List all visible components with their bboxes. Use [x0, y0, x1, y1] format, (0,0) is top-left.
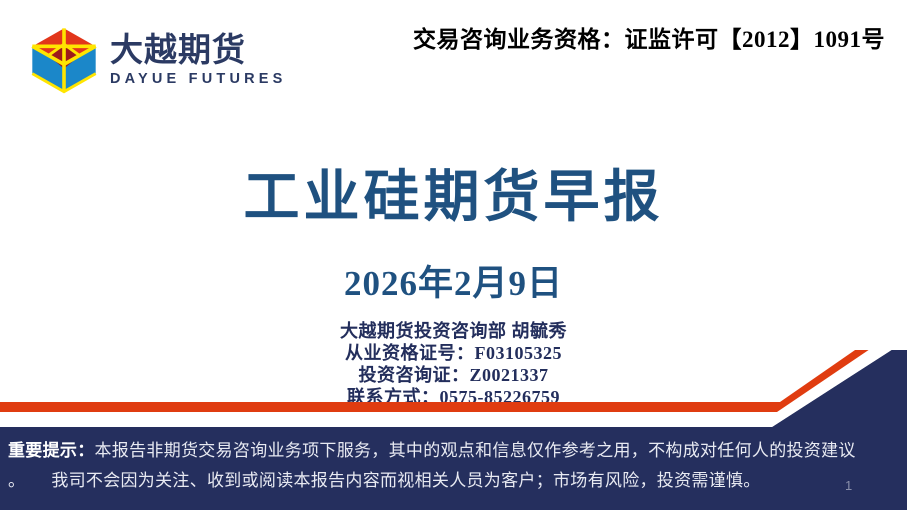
brand-logo: 大越期货 DAYUE FUTURES — [28, 24, 287, 96]
logo-wordmark: 大越期货 DAYUE FUTURES — [110, 33, 287, 87]
page-number: 1 — [845, 478, 852, 493]
department-author: 大越期货投资咨询部 胡毓秀 — [0, 320, 907, 342]
banner-white-gap — [0, 350, 907, 427]
qualification-text: 交易咨询业务资格：证监许可【2012】1091号 — [413, 20, 885, 54]
banner-orange-stripe — [0, 350, 907, 412]
page-title: 工业硅期货早报 — [0, 152, 907, 233]
notice-line-1: 本报告非期货交易咨询业务项下服务，其中的观点和信息仅作参考之用，不构成对任何人的… — [95, 441, 856, 460]
notice-label: 重要提示： — [8, 441, 95, 460]
notice-line-2-wrapper: 。我司不会因为关注、收到或阅读本报告内容而视相关人员为客户；市场有风险，投资需谨… — [8, 466, 888, 496]
hexagon-cube-logo-icon — [28, 24, 100, 96]
notice-line-2-start: 。 — [8, 471, 25, 490]
report-date: 2026年2月9日 — [0, 255, 907, 306]
notice-line-2: 我司不会因为关注、收到或阅读本报告内容而视相关人员为客户；市场有风险，投资需谨慎… — [51, 471, 760, 490]
important-notice: 重要提示：本报告非期货交易咨询业务项下服务，其中的观点和信息仅作参考之用，不构成… — [8, 436, 888, 496]
logo-chinese-name: 大越期货 — [110, 33, 287, 66]
logo-english-name: DAYUE FUTURES — [110, 72, 287, 87]
